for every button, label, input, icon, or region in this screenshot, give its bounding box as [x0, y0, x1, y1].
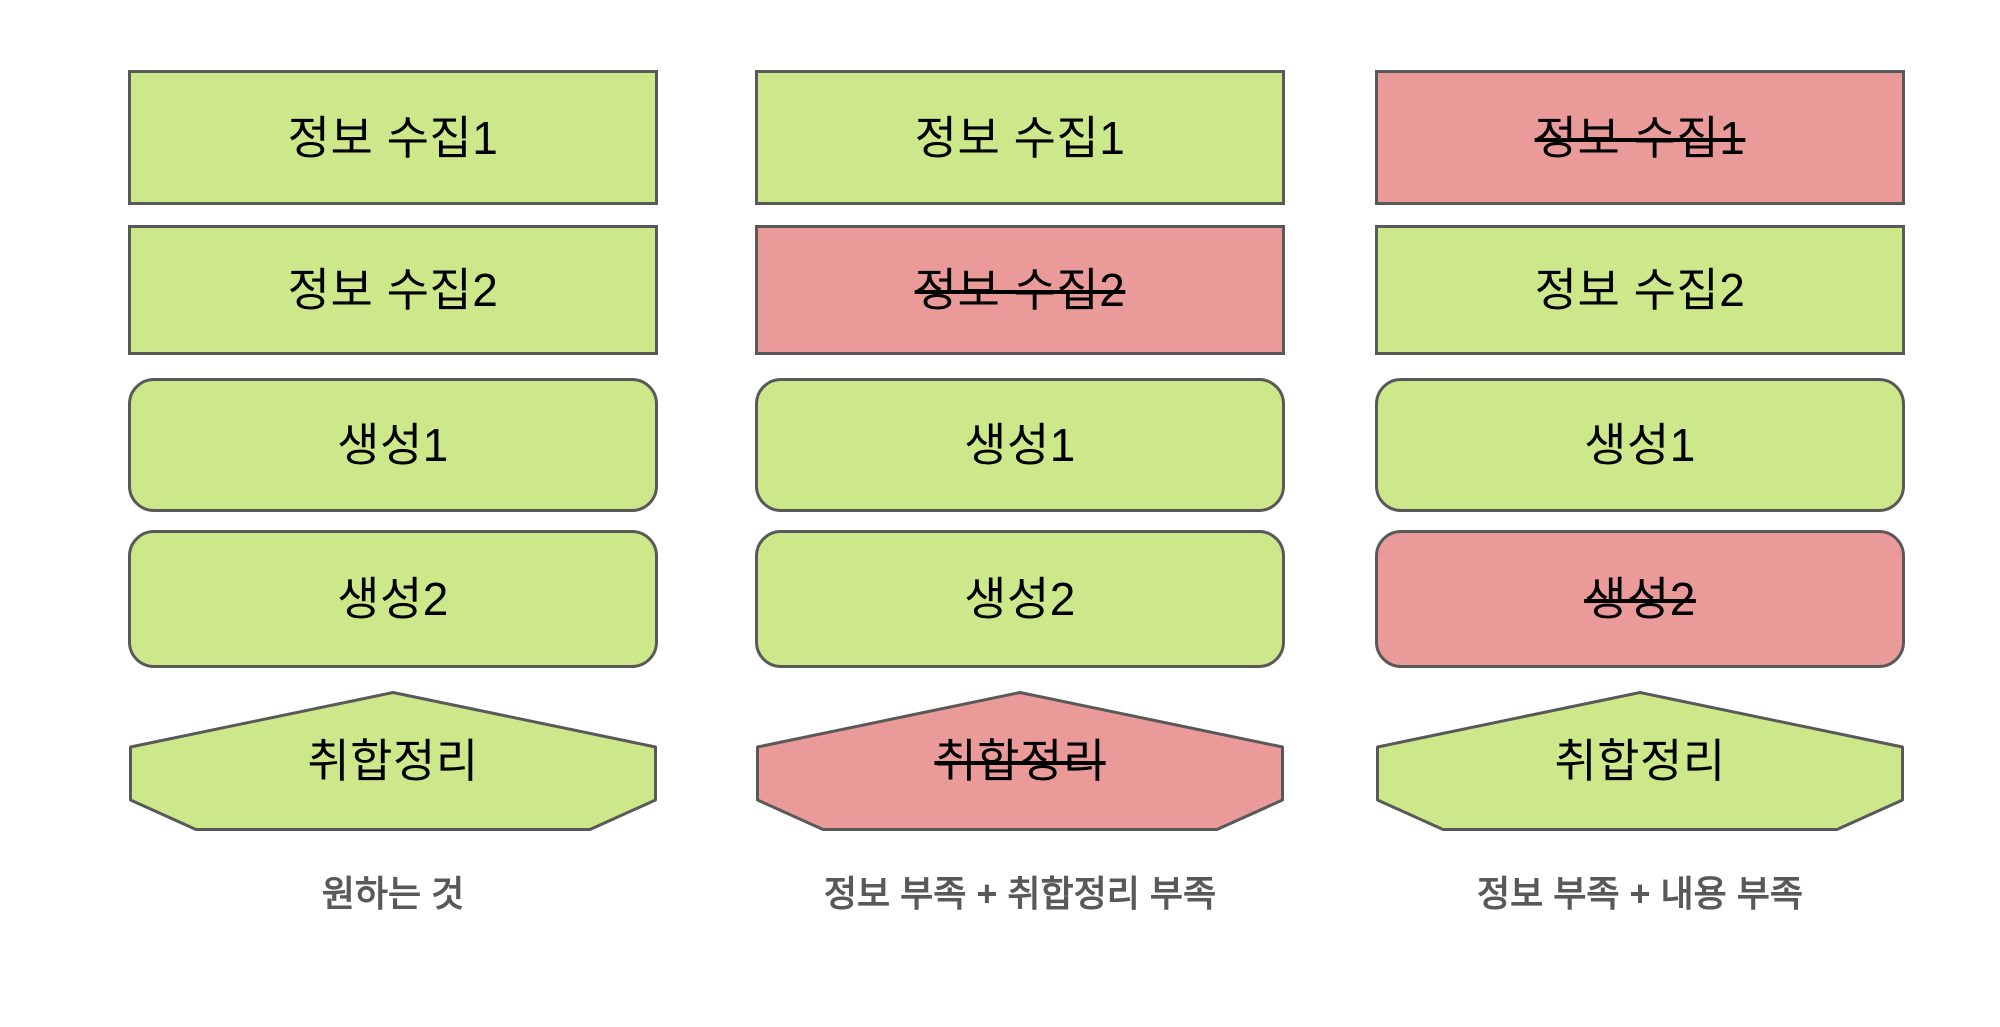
node-label: 생성2: [1584, 576, 1696, 622]
node-label: 정보 수집2: [915, 267, 1126, 313]
node-info-collect-2[interactable]: 정보 수집2: [1375, 225, 1905, 355]
diagram-column-missing-info-and-content: 정보 수집1 정보 수집2 생성1 생성2 취합정리 정보 부족 + 내용 부족: [1375, 0, 1905, 1027]
node-generate-1[interactable]: 생성1: [755, 378, 1285, 512]
node-generate-1[interactable]: 생성1: [1375, 378, 1905, 512]
node-label: 생성2: [964, 576, 1076, 622]
node-label: 취합정리: [307, 738, 478, 784]
node-label: 취합정리: [934, 738, 1105, 784]
node-info-collect-2-failed[interactable]: 정보 수집2: [755, 225, 1285, 355]
node-generate-1[interactable]: 생성1: [128, 378, 658, 512]
column-caption-missing-info-and-summary: 정보 부족 + 취합정리 부족: [755, 872, 1285, 915]
node-label: 취합정리: [1554, 738, 1725, 784]
node-label: 생성1: [1584, 422, 1696, 468]
node-label: 생성1: [337, 422, 449, 468]
node-generate-2-failed[interactable]: 생성2: [1375, 530, 1905, 668]
node-info-collect-1[interactable]: 정보 수집1: [755, 70, 1285, 205]
diagram-column-wanted: 정보 수집1 정보 수집2 생성1 생성2 취합정리 원하는 것: [128, 0, 658, 1027]
node-label: 정보 수집1: [915, 115, 1126, 161]
node-info-collect-2[interactable]: 정보 수집2: [128, 225, 658, 355]
node-label: 정보 수집2: [288, 267, 499, 313]
column-caption-missing-info-and-content: 정보 부족 + 내용 부족: [1375, 872, 1905, 915]
diagram-canvas: 정보 수집1 정보 수집2 생성1 생성2 취합정리 원하는 것 정보 수집1 …: [0, 0, 2000, 1027]
node-aggregate-summary-failed[interactable]: 취합정리: [755, 690, 1285, 832]
column-caption-wanted: 원하는 것: [128, 872, 658, 915]
node-generate-2[interactable]: 생성2: [755, 530, 1285, 668]
node-aggregate-summary[interactable]: 취합정리: [1375, 690, 1905, 832]
node-label: 정보 수집1: [288, 115, 499, 161]
node-info-collect-1-failed[interactable]: 정보 수집1: [1375, 70, 1905, 205]
node-generate-2[interactable]: 생성2: [128, 530, 658, 668]
node-aggregate-summary[interactable]: 취합정리: [128, 690, 658, 832]
node-label: 생성1: [964, 422, 1076, 468]
diagram-column-missing-info-and-summary: 정보 수집1 정보 수집2 생성1 생성2 취합정리 정보 부족 + 취합정리 …: [755, 0, 1285, 1027]
node-label: 생성2: [337, 576, 449, 622]
node-label: 정보 수집2: [1535, 267, 1746, 313]
node-label: 정보 수집1: [1535, 115, 1746, 161]
node-info-collect-1[interactable]: 정보 수집1: [128, 70, 658, 205]
